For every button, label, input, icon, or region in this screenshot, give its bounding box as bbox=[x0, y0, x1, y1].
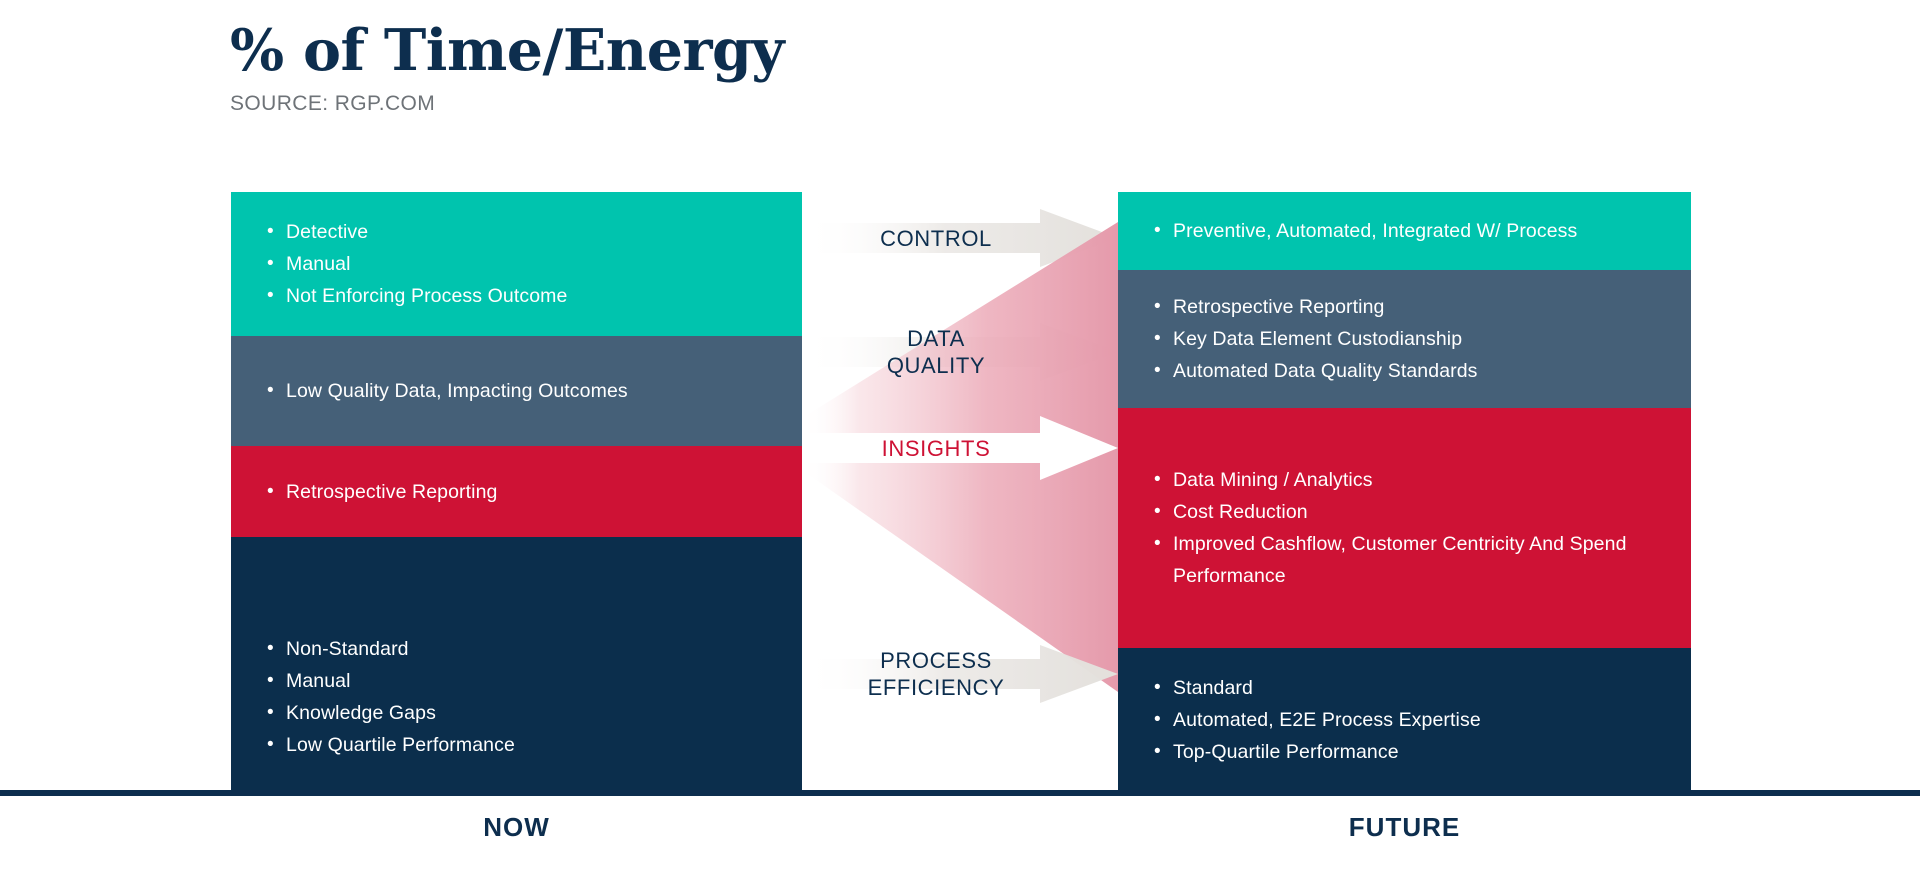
bullet-icon: • bbox=[267, 665, 286, 697]
bullet-icon: • bbox=[267, 476, 286, 508]
bullet-icon: • bbox=[267, 697, 286, 729]
list-item: • Improved Cashflow, Customer Centricity… bbox=[1154, 528, 1691, 592]
bullet-icon: • bbox=[1154, 528, 1173, 560]
now-column: • Detective • Manual • Not Enforcing Pro… bbox=[231, 192, 802, 792]
bullet-icon: • bbox=[1154, 464, 1173, 496]
now-band-control: • Detective • Manual • Not Enforcing Pro… bbox=[231, 192, 802, 336]
bullet-icon: • bbox=[1154, 323, 1173, 355]
center-arrow-column: CONTROL DATA QUALITY bbox=[802, 192, 1118, 792]
list-item: • Non-Standard bbox=[267, 633, 802, 665]
bottom-divider bbox=[0, 790, 1920, 796]
list-item: • Low Quartile Performance bbox=[267, 729, 802, 761]
now-band-process-efficiency: • Non-Standard • Manual • Knowledge Gaps… bbox=[231, 537, 802, 792]
now-band-insights: • Retrospective Reporting bbox=[231, 446, 802, 537]
bullet-icon: • bbox=[1154, 291, 1173, 323]
arrow-insights-label: INSIGHTS bbox=[802, 416, 1070, 480]
list-item: • Preventive, Automated, Integrated W/ P… bbox=[1154, 215, 1691, 247]
list-item: • Retrospective Reporting bbox=[267, 476, 802, 508]
arrow-process-efficiency-label: PROCESS EFFICIENCY bbox=[802, 642, 1070, 706]
list-item: • Low Quality Data, Impacting Outcomes bbox=[267, 375, 802, 407]
bullet-icon: • bbox=[1154, 672, 1173, 704]
list-item: • Automated Data Quality Standards bbox=[1154, 355, 1691, 387]
list-item: • Knowledge Gaps bbox=[267, 697, 802, 729]
future-column: • Preventive, Automated, Integrated W/ P… bbox=[1118, 192, 1691, 792]
caption-now: NOW bbox=[231, 812, 802, 843]
future-band-data-quality: • Retrospective Reporting • Key Data Ele… bbox=[1118, 270, 1691, 408]
arrow-insights: INSIGHTS bbox=[802, 416, 1118, 480]
now-band-data-quality: • Low Quality Data, Impacting Outcomes bbox=[231, 336, 802, 446]
list-item: • Manual bbox=[267, 665, 802, 697]
bullet-icon: • bbox=[1154, 215, 1173, 247]
future-band-control: • Preventive, Automated, Integrated W/ P… bbox=[1118, 192, 1691, 270]
bullet-icon: • bbox=[1154, 736, 1173, 768]
list-item: • Not Enforcing Process Outcome bbox=[267, 280, 802, 312]
list-item: • Manual bbox=[267, 248, 802, 280]
future-band-process-efficiency: • Standard • Automated, E2E Process Expe… bbox=[1118, 648, 1691, 792]
list-item: • Cost Reduction bbox=[1154, 496, 1691, 528]
list-item: • Retrospective Reporting bbox=[1154, 291, 1691, 323]
arrow-data-quality: DATA QUALITY bbox=[802, 320, 1118, 384]
bullet-icon: • bbox=[267, 375, 286, 407]
list-item: • Top-Quartile Performance bbox=[1154, 736, 1691, 768]
future-band-insights: • Data Mining / Analytics • Cost Reducti… bbox=[1118, 408, 1691, 648]
bullet-icon: • bbox=[267, 216, 286, 248]
arrow-data-quality-label: DATA QUALITY bbox=[802, 320, 1070, 384]
arrow-control: CONTROL bbox=[802, 206, 1118, 270]
caption-future: FUTURE bbox=[1118, 812, 1691, 843]
bullet-icon: • bbox=[267, 729, 286, 761]
list-item: • Detective bbox=[267, 216, 802, 248]
bullet-icon: • bbox=[267, 248, 286, 280]
bullet-icon: • bbox=[267, 280, 286, 312]
list-item: • Data Mining / Analytics bbox=[1154, 464, 1691, 496]
list-item: • Key Data Element Custodianship bbox=[1154, 323, 1691, 355]
bullet-icon: • bbox=[1154, 704, 1173, 736]
bullet-icon: • bbox=[267, 633, 286, 665]
arrow-process-efficiency: PROCESS EFFICIENCY bbox=[802, 642, 1118, 706]
bullet-icon: • bbox=[1154, 496, 1173, 528]
arrow-control-label: CONTROL bbox=[802, 206, 1070, 270]
comparison-diagram: • Detective • Manual • Not Enforcing Pro… bbox=[0, 0, 1920, 892]
list-item: • Standard bbox=[1154, 672, 1691, 704]
list-item: • Automated, E2E Process Expertise bbox=[1154, 704, 1691, 736]
bullet-icon: • bbox=[1154, 355, 1173, 387]
